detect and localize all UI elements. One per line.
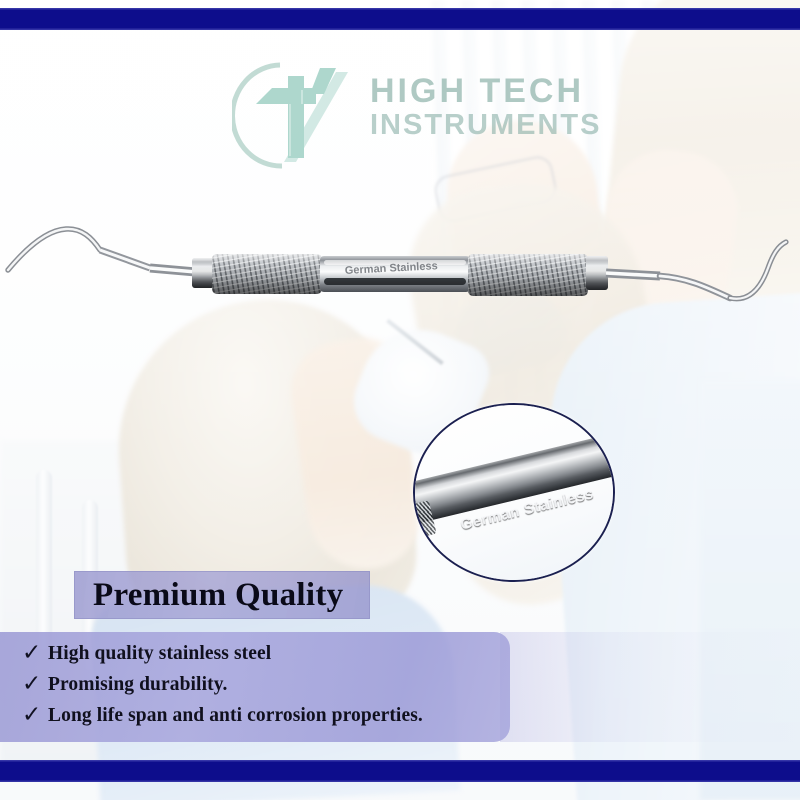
- logo-line-1: HIGH TECH: [370, 74, 601, 108]
- logo-line-2: INSTRUMENTS: [370, 111, 601, 140]
- check-icon: ✓: [22, 642, 48, 665]
- list-item: ✓ Long life span and anti corrosion prop…: [22, 703, 510, 734]
- brand-logo: HIGH TECH INSTRUMENTS: [232, 58, 592, 173]
- logo-wordmark: HIGH TECH INSTRUMENTS: [370, 74, 601, 140]
- product-image-canvas: HIGH TECH INSTRUMENTS: [0, 0, 800, 800]
- check-icon: ✓: [22, 704, 48, 727]
- left-knurled-grip: [212, 254, 322, 294]
- feature-text: Long life span and anti corrosion proper…: [48, 705, 423, 727]
- high-tech-instruments-logo-mark: [232, 58, 362, 173]
- check-icon: ✓: [22, 673, 48, 696]
- list-item: ✓ Promising durability.: [22, 672, 510, 703]
- premium-quality-banner: Premium Quality: [74, 571, 370, 619]
- bullet-panel-haze: [500, 632, 800, 742]
- dental-scaler-instrument: German Stainless: [0, 190, 800, 350]
- bottom-navy-rule: [0, 760, 800, 782]
- list-item: ✓ High quality stainless steel: [22, 641, 510, 672]
- center-polished-shaft: German Stainless: [320, 256, 470, 292]
- feature-text: High quality stainless steel: [48, 643, 271, 665]
- right-knurled-grip: [468, 254, 588, 296]
- left-scaler-tip: [8, 229, 196, 272]
- left-ferrule: [192, 258, 214, 288]
- right-probe-tip: [606, 242, 786, 299]
- feature-list-panel: ✓ High quality stainless steel ✓ Promisi…: [0, 632, 510, 742]
- headline-text: Premium Quality: [93, 579, 343, 612]
- top-navy-rule: [0, 8, 800, 30]
- right-ferrule: [586, 256, 608, 290]
- feature-text: Promising durability.: [48, 674, 227, 696]
- magnified-engraving-inset: German Stainless: [413, 403, 615, 582]
